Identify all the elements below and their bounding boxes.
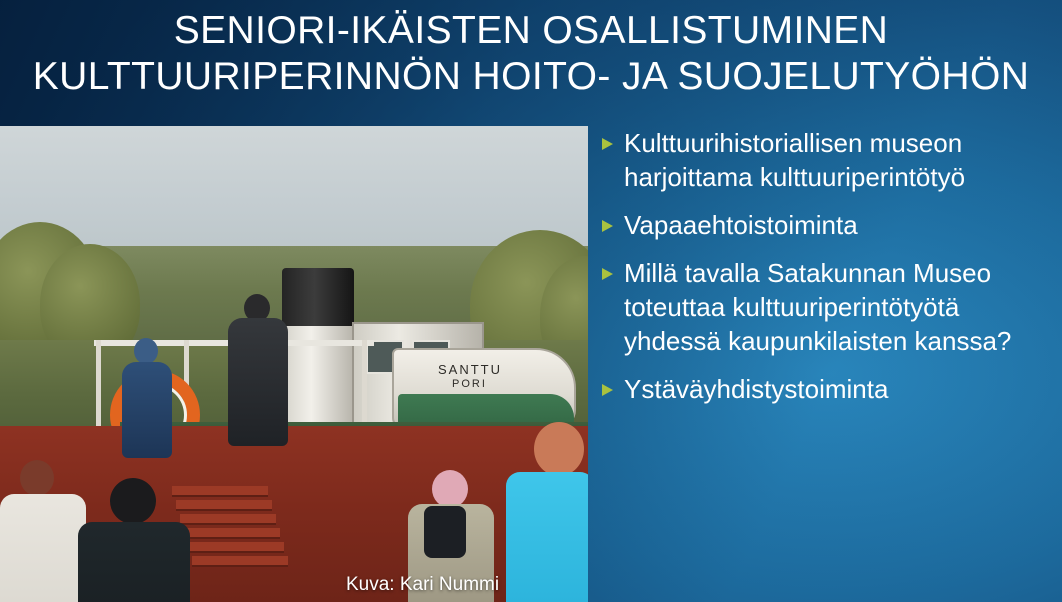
list-item: Ystäväyhdistystoiminta (600, 372, 1048, 406)
photo-boat-name: SANTTU (438, 362, 502, 377)
photo-illustration: SANTTU PORI (0, 126, 588, 602)
page-title: SENIORI-IKÄISTEN OSALLISTUMINEN KULTTUUR… (0, 8, 1062, 100)
photo-funnel-top (282, 268, 354, 330)
triangle-bullet-icon (600, 126, 624, 151)
list-item-label: Ystäväyhdistystoiminta (624, 372, 1048, 406)
title-line-1: SENIORI-IKÄISTEN OSALLISTUMINEN (0, 8, 1062, 54)
list-item-label: Millä tavalla Satakunnan Museo toteuttaa… (624, 256, 1048, 358)
bullet-list: Kulttuurihistoriallisen museon harjoitta… (600, 126, 1048, 420)
photo-railing-post (96, 340, 101, 436)
photo-caption: Kuva: Kari Nummi (346, 574, 499, 596)
slide: SENIORI-IKÄISTEN OSALLISTUMINEN KULTTUUR… (0, 0, 1062, 602)
photo-stairs (172, 486, 292, 582)
list-item: Vapaaehtoistoiminta (600, 208, 1048, 242)
list-item-label: Kulttuurihistoriallisen museon harjoitta… (624, 126, 1048, 194)
triangle-bullet-icon (600, 372, 624, 397)
list-item: Kulttuurihistoriallisen museon harjoitta… (600, 126, 1048, 194)
list-item: Millä tavalla Satakunnan Museo toteuttaa… (600, 256, 1048, 358)
triangle-bullet-icon (600, 208, 624, 233)
slide-photo: SANTTU PORI (0, 126, 588, 602)
photo-boat-home-port: PORI (452, 378, 487, 390)
list-item-label: Vapaaehtoistoiminta (624, 208, 1048, 242)
title-line-2: KULTTUURIPERINNÖN HOITO- JA SUOJELUTYÖHÖ… (0, 54, 1062, 100)
triangle-bullet-icon (600, 256, 624, 281)
